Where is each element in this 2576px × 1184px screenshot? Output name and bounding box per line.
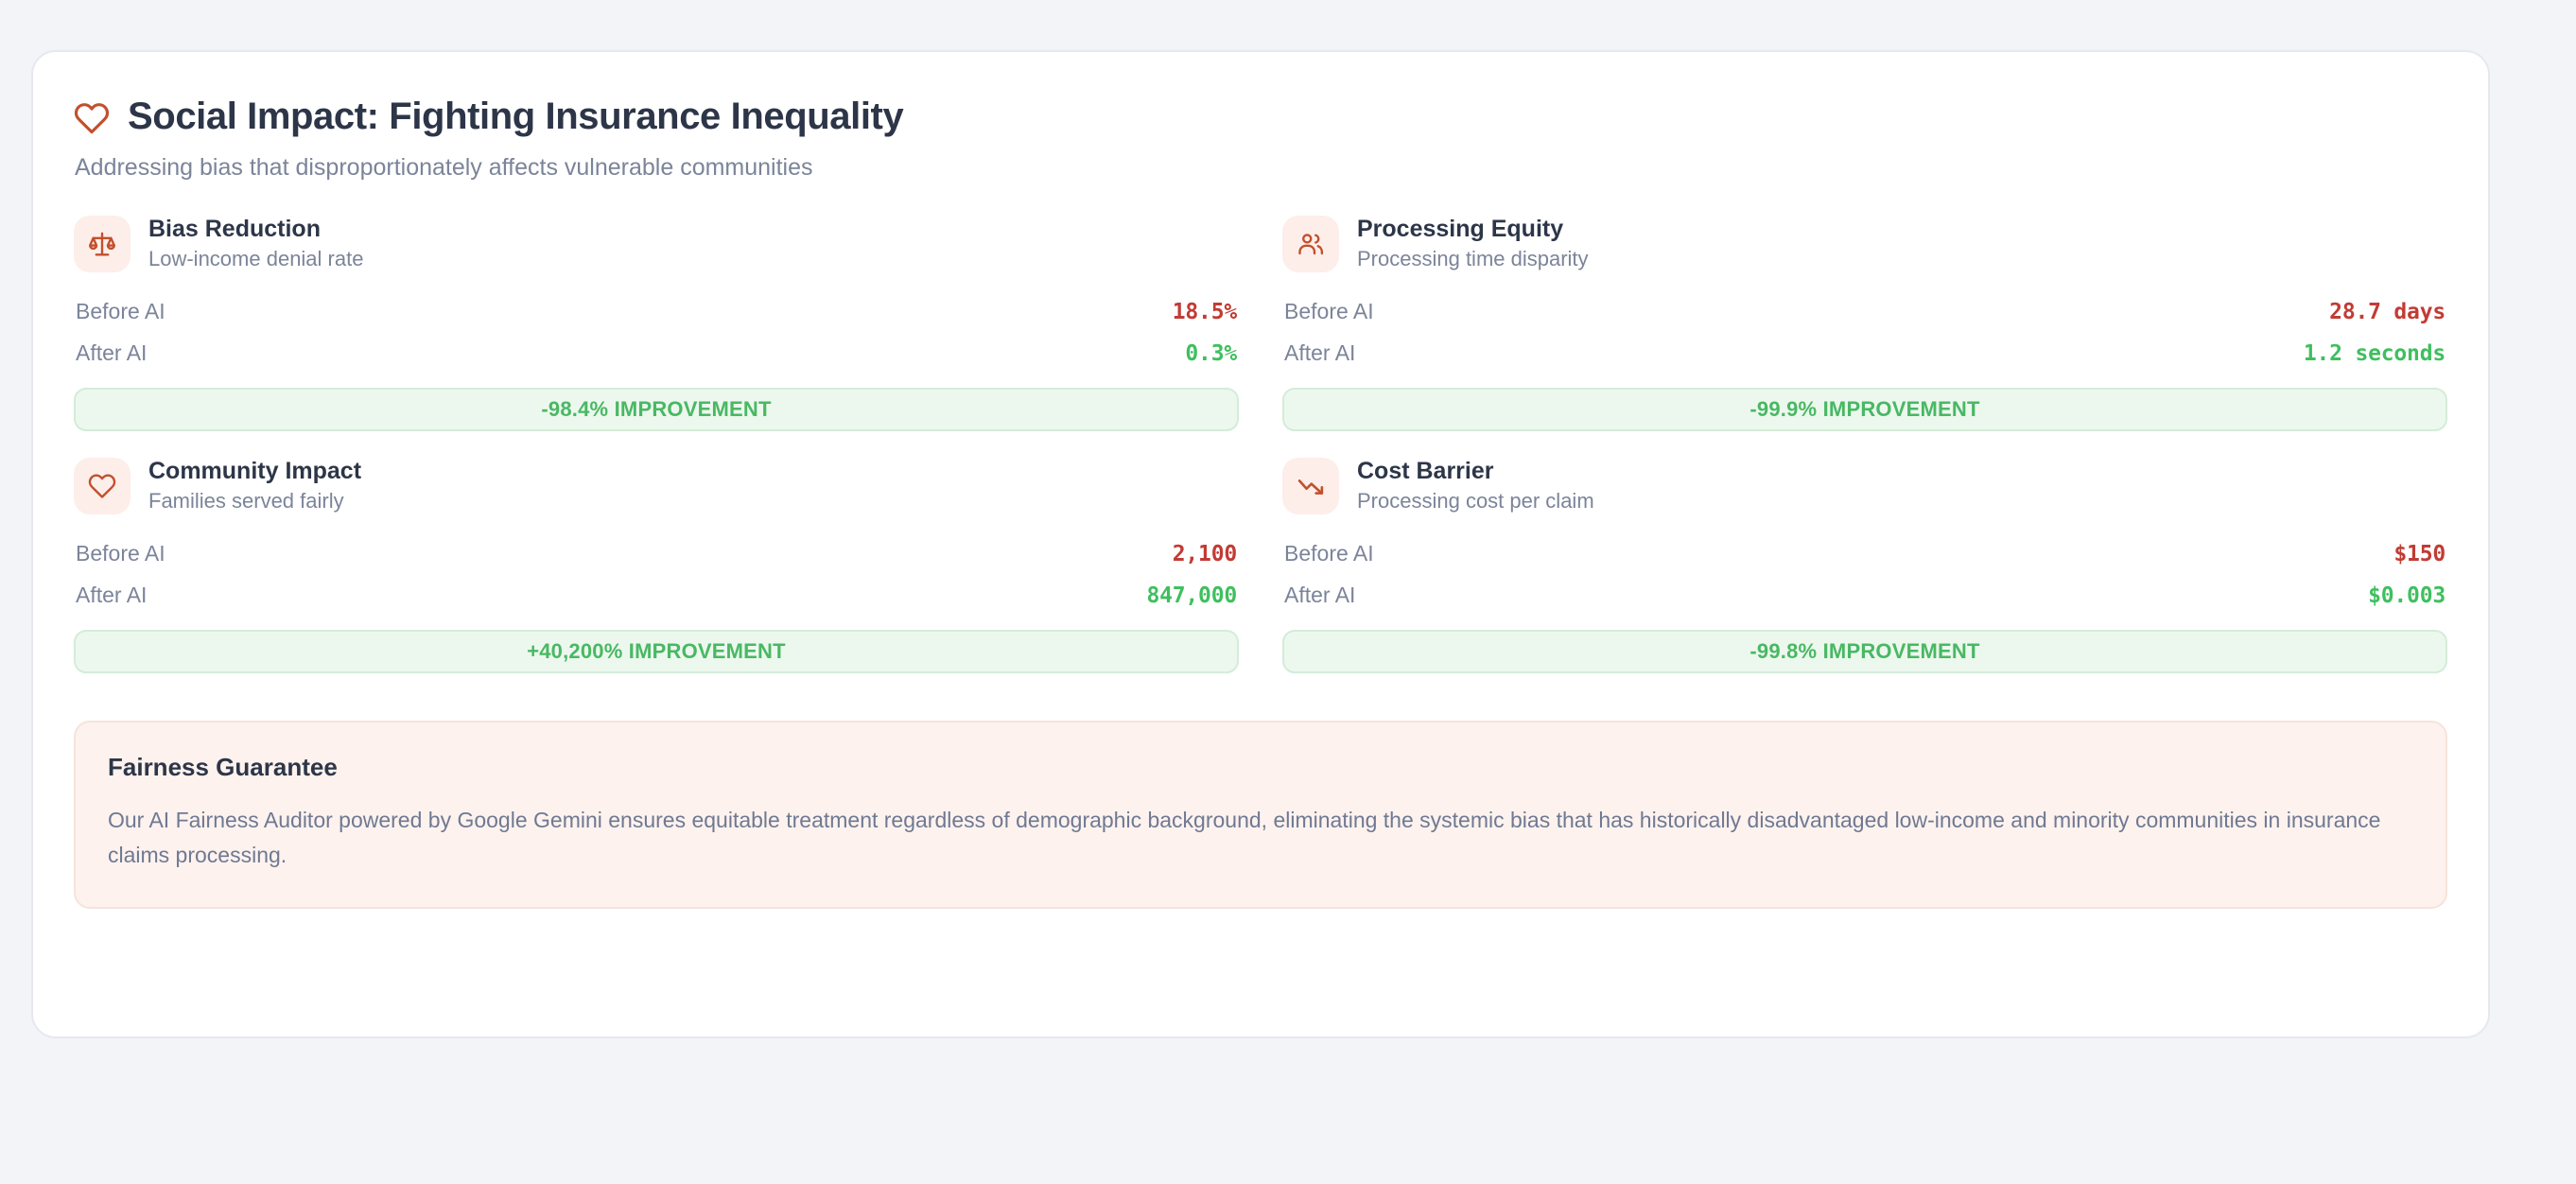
metric-card-processing-equity: Processing Equity Processing time dispar… [1282, 216, 2447, 458]
heart-icon [74, 100, 110, 136]
metric-description: Low-income denial rate [148, 247, 363, 271]
metric-titles: Processing Equity Processing time dispar… [1357, 216, 1589, 272]
metric-row-before: Before AI 28.7 days [1282, 293, 2447, 330]
heart-icon [74, 458, 131, 514]
before-label: Before AI [1284, 541, 1374, 566]
metric-titles: Bias Reduction Low-income denial rate [148, 216, 363, 272]
fairness-guarantee-callout: Fairness Guarantee Our AI Fairness Audit… [74, 721, 2447, 910]
after-label: After AI [76, 583, 147, 608]
metric-header: Community Impact Families served fairly [74, 458, 1239, 514]
trending-down-icon [1282, 458, 1339, 514]
metric-row-before: Before AI 2,100 [74, 535, 1239, 572]
before-label: Before AI [76, 541, 165, 566]
before-value: 18.5% [1173, 300, 1237, 324]
improvement-badge: -99.8% IMPROVEMENT [1282, 630, 2447, 673]
metric-name: Bias Reduction [148, 216, 363, 243]
users-icon [1282, 216, 1339, 272]
metric-card-bias-reduction: Bias Reduction Low-income denial rate Be… [74, 216, 1239, 458]
improvement-badge: -99.9% IMPROVEMENT [1282, 388, 2447, 431]
metric-row-after: After AI 1.2 seconds [1282, 330, 2447, 372]
after-label: After AI [1284, 340, 1355, 366]
metric-description: Families served fairly [148, 489, 361, 514]
page-title: Social Impact: Fighting Insurance Inequa… [128, 96, 903, 137]
metric-titles: Community Impact Families served fairly [148, 458, 361, 514]
metric-header: Cost Barrier Processing cost per claim [1282, 458, 2447, 514]
metric-row-after: After AI 0.3% [74, 330, 1239, 372]
metric-description: Processing cost per claim [1357, 489, 1594, 514]
page-subtitle: Addressing bias that disproportionately … [75, 152, 2447, 183]
fairness-text: Our AI Fairness Auditor powered by Googl… [108, 803, 2406, 874]
after-value: $0.003 [2368, 583, 2445, 608]
social-impact-panel: Social Impact: Fighting Insurance Inequa… [31, 50, 2490, 1038]
after-label: After AI [76, 340, 147, 366]
page-root: Social Impact: Fighting Insurance Inequa… [0, 0, 2576, 1184]
scales-icon [74, 216, 131, 272]
before-label: Before AI [1284, 299, 1374, 324]
title-row: Social Impact: Fighting Insurance Inequa… [74, 96, 2447, 137]
before-value: $150 [2393, 542, 2445, 566]
metric-header: Bias Reduction Low-income denial rate [74, 216, 1239, 272]
after-value: 847,000 [1146, 583, 1237, 608]
improvement-badge: -98.4% IMPROVEMENT [74, 388, 1239, 431]
metric-row-before: Before AI $150 [1282, 535, 2447, 572]
before-value: 2,100 [1173, 542, 1237, 566]
before-value: 28.7 days [2329, 300, 2445, 324]
metric-description: Processing time disparity [1357, 247, 1589, 271]
metric-row-after: After AI $0.003 [1282, 572, 2447, 614]
metric-titles: Cost Barrier Processing cost per claim [1357, 458, 1594, 514]
improvement-badge: +40,200% IMPROVEMENT [74, 630, 1239, 673]
metric-name: Processing Equity [1357, 216, 1589, 243]
metric-row-before: Before AI 18.5% [74, 293, 1239, 330]
before-label: Before AI [76, 299, 165, 324]
after-value: 0.3% [1185, 341, 1237, 366]
fairness-title: Fairness Guarantee [108, 753, 2413, 782]
metric-name: Community Impact [148, 458, 361, 485]
metric-card-cost-barrier: Cost Barrier Processing cost per claim B… [1282, 458, 2447, 700]
metric-row-after: After AI 847,000 [74, 572, 1239, 614]
metric-name: Cost Barrier [1357, 458, 1594, 485]
metric-header: Processing Equity Processing time dispar… [1282, 216, 2447, 272]
metrics-grid: Bias Reduction Low-income denial rate Be… [74, 216, 2447, 700]
metric-card-community-impact: Community Impact Families served fairly … [74, 458, 1239, 700]
after-label: After AI [1284, 583, 1355, 608]
after-value: 1.2 seconds [2304, 341, 2445, 366]
panel-header: Social Impact: Fighting Insurance Inequa… [74, 96, 2447, 183]
